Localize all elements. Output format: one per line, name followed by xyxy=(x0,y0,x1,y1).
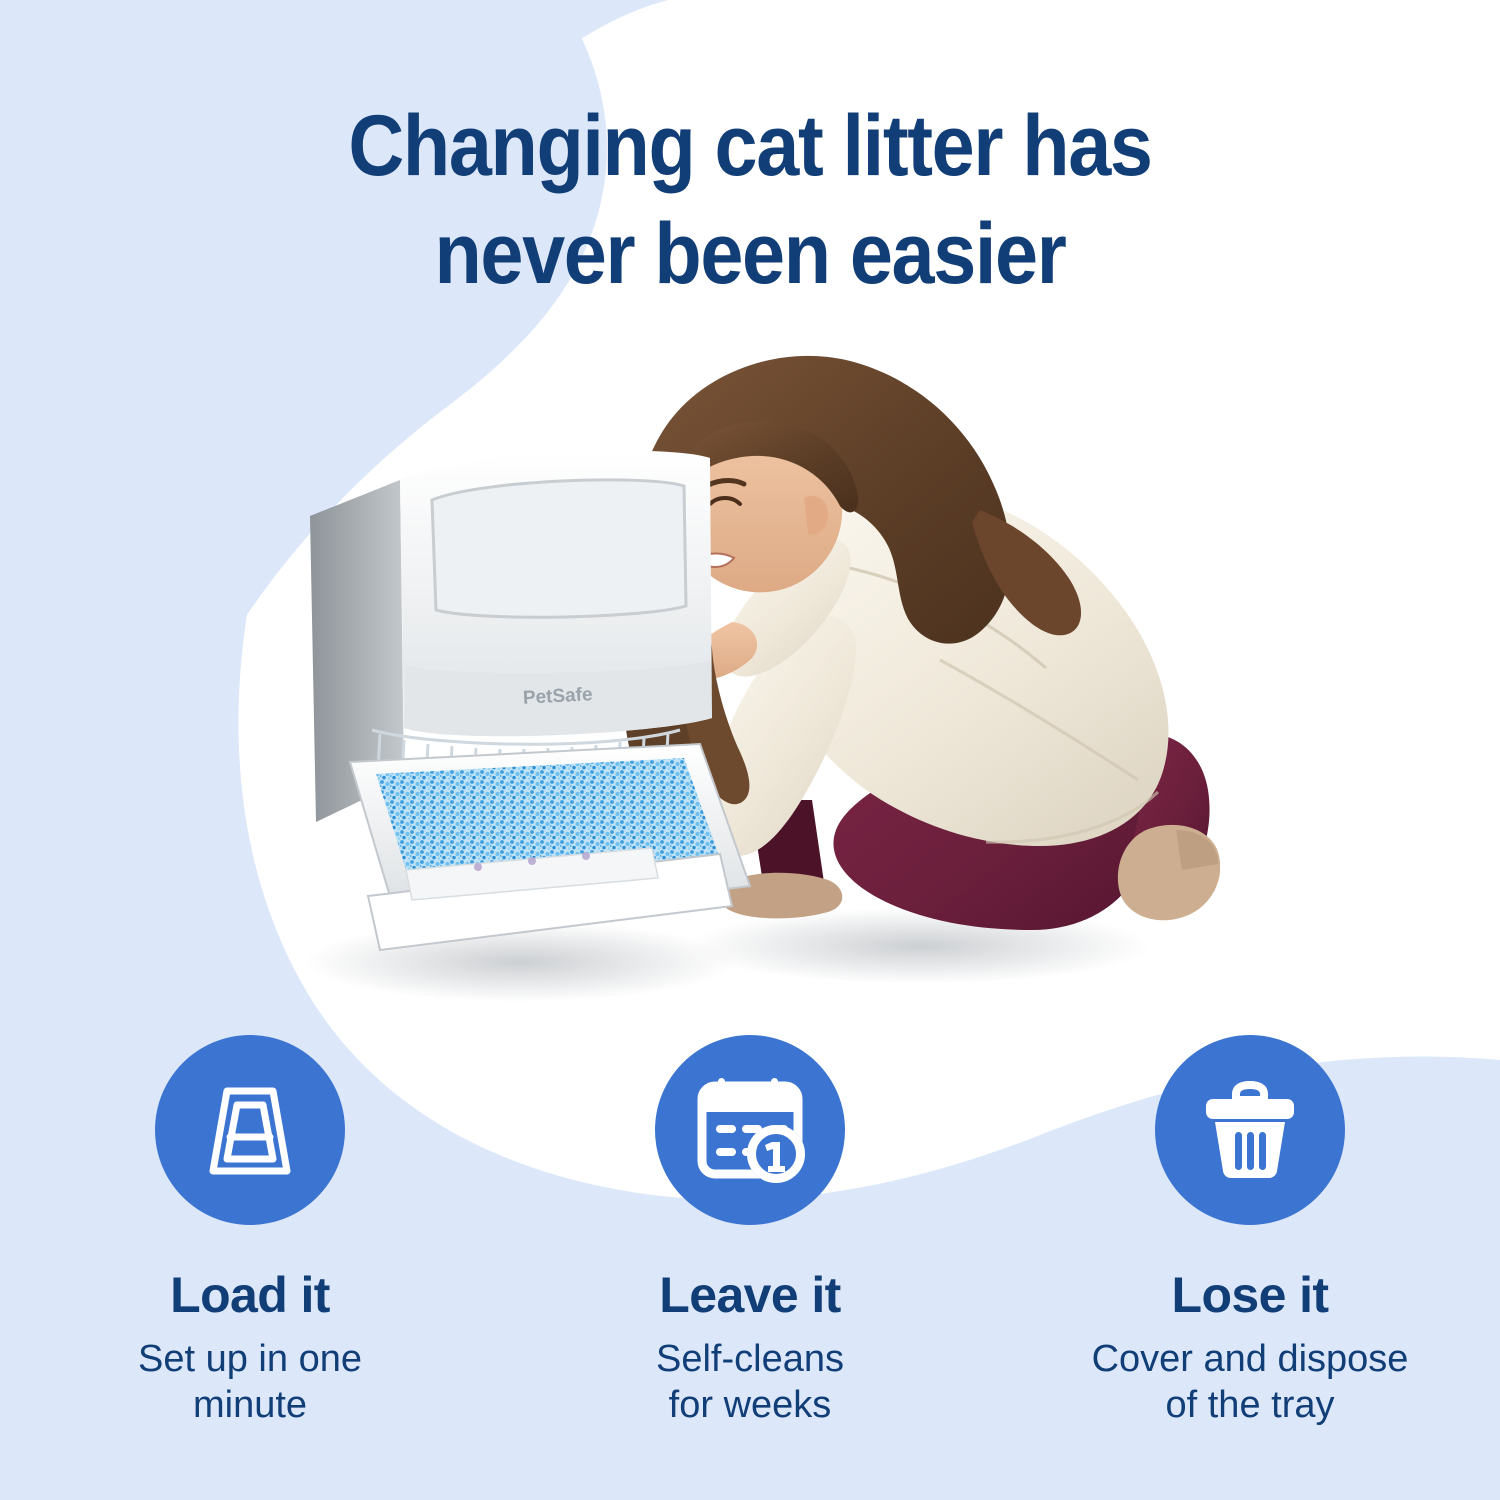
promo-banner: Changing cat litter has never been easie… xyxy=(0,0,1500,1500)
brand-label: PetSafe xyxy=(522,684,593,709)
trash-can-icon xyxy=(1194,1074,1306,1186)
calendar-one-icon xyxy=(692,1072,808,1188)
hood-lid xyxy=(432,480,686,617)
hero-photo: PetSafe xyxy=(280,330,1220,1030)
litter-tray-icon xyxy=(195,1075,305,1185)
feature-title: Load it xyxy=(170,1269,330,1322)
feature-description: Set up in one minute xyxy=(138,1336,362,1429)
feature-row: Load it Set up in one minute xyxy=(0,1035,1500,1428)
feature-title: Leave it xyxy=(659,1269,840,1322)
feature-icon-badge xyxy=(155,1035,345,1225)
feature-icon-badge xyxy=(655,1035,845,1225)
floor-shadow-box xyxy=(305,922,735,1002)
feature-description: Cover and dispose of the tray xyxy=(1092,1336,1409,1429)
person-shoe-shade xyxy=(1176,830,1218,870)
feature-description: Self-cleans for weeks xyxy=(656,1336,844,1429)
feature-icon-badge xyxy=(1155,1035,1345,1225)
feature-title: Lose it xyxy=(1172,1269,1329,1322)
feature-leave-it: Leave it Self-cleans for weeks xyxy=(500,1035,1000,1428)
feature-load-it: Load it Set up in one minute xyxy=(0,1035,500,1428)
page-title: Changing cat litter has never been easie… xyxy=(75,92,1425,309)
feature-lose-it: Lose it Cover and dispose of the tray xyxy=(1000,1035,1500,1428)
